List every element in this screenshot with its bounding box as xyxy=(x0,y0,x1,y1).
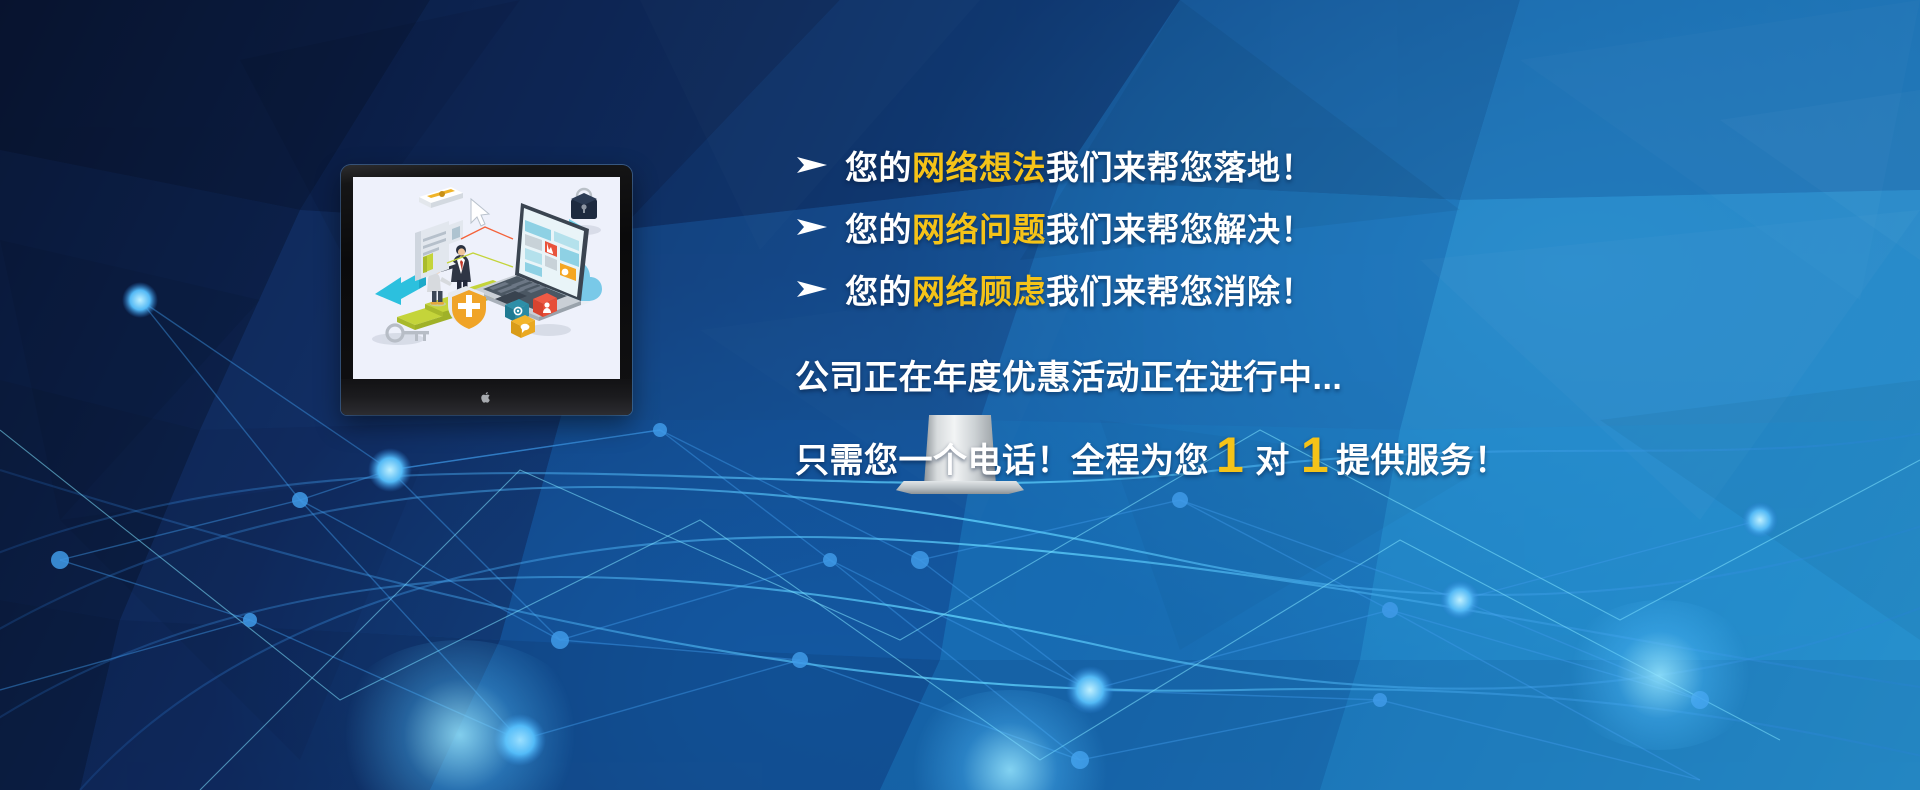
promo-banner: 您的网络想法我们来帮您落地！ 您的网络问题我们来帮您解决！ 您的网络顾虑我们来帮… xyxy=(0,0,1920,790)
call-middle: 对 xyxy=(1251,433,1294,482)
bullet-text-3: 您的网络顾虑我们来帮您消除！ xyxy=(845,265,1314,313)
bullet-text-2: 您的网络问题我们来帮您解决！ xyxy=(845,203,1314,251)
call-lead: 只需您一个电话！全程为您 xyxy=(795,433,1209,482)
arrow-right-icon xyxy=(795,279,829,299)
bullet-item-1: 您的网络想法我们来帮您落地！ xyxy=(795,134,1535,196)
monitor-stand-base xyxy=(896,481,1024,494)
bullet-item-3: 您的网络顾虑我们来帮您消除！ xyxy=(795,258,1535,320)
imac-monitor xyxy=(341,165,632,415)
arrow-right-icon xyxy=(795,217,829,237)
bullet-highlight-2: 网络问题 xyxy=(912,211,1046,248)
screen-illustration xyxy=(353,177,620,379)
bullet-lead-2: 您的 xyxy=(845,211,912,248)
call-number-one-first: 1 xyxy=(1209,433,1251,478)
bullet-lead-1: 您的 xyxy=(845,149,912,186)
monitor-chin xyxy=(341,379,632,415)
call-to-action-text: 只需您一个电话！全程为您 1 对 1 提供服务！ xyxy=(795,433,1535,482)
bullet-tail-1: 我们来帮您落地！ xyxy=(1046,149,1314,186)
call-tail: 提供服务！ xyxy=(1336,433,1509,482)
bullet-lead-3: 您的 xyxy=(845,273,912,310)
monitor-screen xyxy=(353,177,620,379)
apple-logo-icon xyxy=(481,391,492,404)
bullet-highlight-1: 网络想法 xyxy=(912,149,1046,186)
marketing-copy: 您的网络想法我们来帮您落地！ 您的网络问题我们来帮您解决！ 您的网络顾虑我们来帮… xyxy=(795,134,1535,482)
call-number-one-second: 1 xyxy=(1294,433,1336,478)
bullet-item-2: 您的网络问题我们来帮您解决！ xyxy=(795,196,1535,258)
bullet-highlight-3: 网络顾虑 xyxy=(912,273,1046,310)
arrow-right-icon xyxy=(795,155,829,175)
bullet-text-1: 您的网络想法我们来帮您落地！ xyxy=(845,141,1314,189)
bullet-tail-2: 我们来帮您解决！ xyxy=(1046,211,1314,248)
promo-text: 公司正在年度优惠活动正在进行中... xyxy=(795,350,1535,399)
bullet-tail-3: 我们来帮您消除！ xyxy=(1046,273,1314,310)
